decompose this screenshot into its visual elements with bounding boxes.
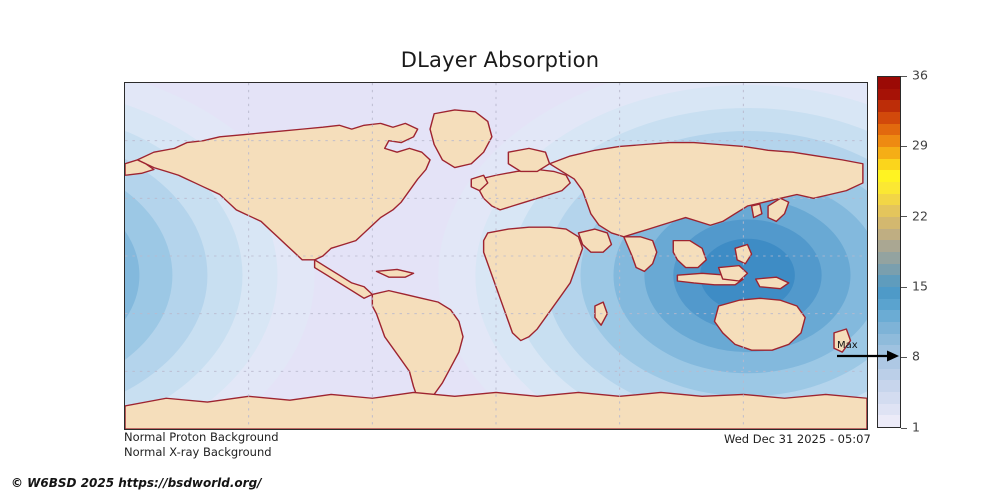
colorbar-band	[878, 89, 900, 101]
colorbar-band	[878, 287, 900, 299]
colorbar-band	[878, 240, 900, 252]
colorbar-band	[878, 264, 900, 276]
colorbar-band	[878, 415, 900, 427]
colorbar-band	[878, 112, 900, 124]
colorbar-band	[878, 124, 900, 136]
tick-mark	[901, 146, 907, 147]
colorbar-ticks: 1815222936	[901, 76, 961, 428]
tick-mark	[901, 357, 907, 358]
colorbar-band	[878, 159, 900, 171]
tick-label: 15	[912, 280, 928, 293]
colorbar: 1815222936 Max	[877, 76, 901, 428]
colorbar-band	[878, 217, 900, 229]
colorbar-gradient	[877, 76, 901, 428]
colorbar-band	[878, 77, 900, 89]
colorbar-band	[878, 310, 900, 322]
map-panel	[124, 82, 868, 430]
colorbar-band	[878, 135, 900, 147]
scandinavia	[508, 148, 549, 171]
tick-label: 1	[912, 421, 920, 434]
xray-status-text: Normal X-ray Background	[124, 445, 272, 459]
colorbar-band	[878, 229, 900, 241]
colorbar-band	[878, 275, 900, 287]
map-canvas	[125, 83, 867, 429]
colorbar-band	[878, 322, 900, 334]
colorbar-band	[878, 369, 900, 381]
max-marker: Max	[835, 343, 899, 365]
tick-mark	[901, 428, 907, 429]
colorbar-band	[878, 392, 900, 404]
timestamp-label: Wed Dec 31 2025 - 05:07	[724, 432, 871, 446]
colorbar-band	[878, 194, 900, 206]
tick-mark	[901, 216, 907, 217]
tick-label: 29	[912, 140, 928, 153]
tick-mark	[901, 287, 907, 288]
page-title: DLayer Absorption	[0, 48, 1000, 72]
max-marker-label: Max	[837, 340, 858, 351]
colorbar-band	[878, 182, 900, 194]
colorbar-band	[878, 404, 900, 416]
colorbar-band	[878, 380, 900, 392]
colorbar-band	[878, 100, 900, 112]
tick-label: 8	[912, 351, 920, 364]
world-map-svg	[125, 83, 867, 429]
colorbar-band	[878, 205, 900, 217]
colorbar-band	[878, 252, 900, 264]
proton-status-text: Normal Proton Background	[124, 430, 279, 444]
copyright-notice: © W6BSD 2025 https://bsdworld.org/	[11, 476, 262, 490]
tick-label: 22	[912, 210, 928, 223]
colorbar-band	[878, 147, 900, 159]
tick-label: 36	[912, 69, 928, 82]
colorbar-band	[878, 170, 900, 182]
tick-mark	[901, 76, 907, 77]
colorbar-band	[878, 299, 900, 311]
